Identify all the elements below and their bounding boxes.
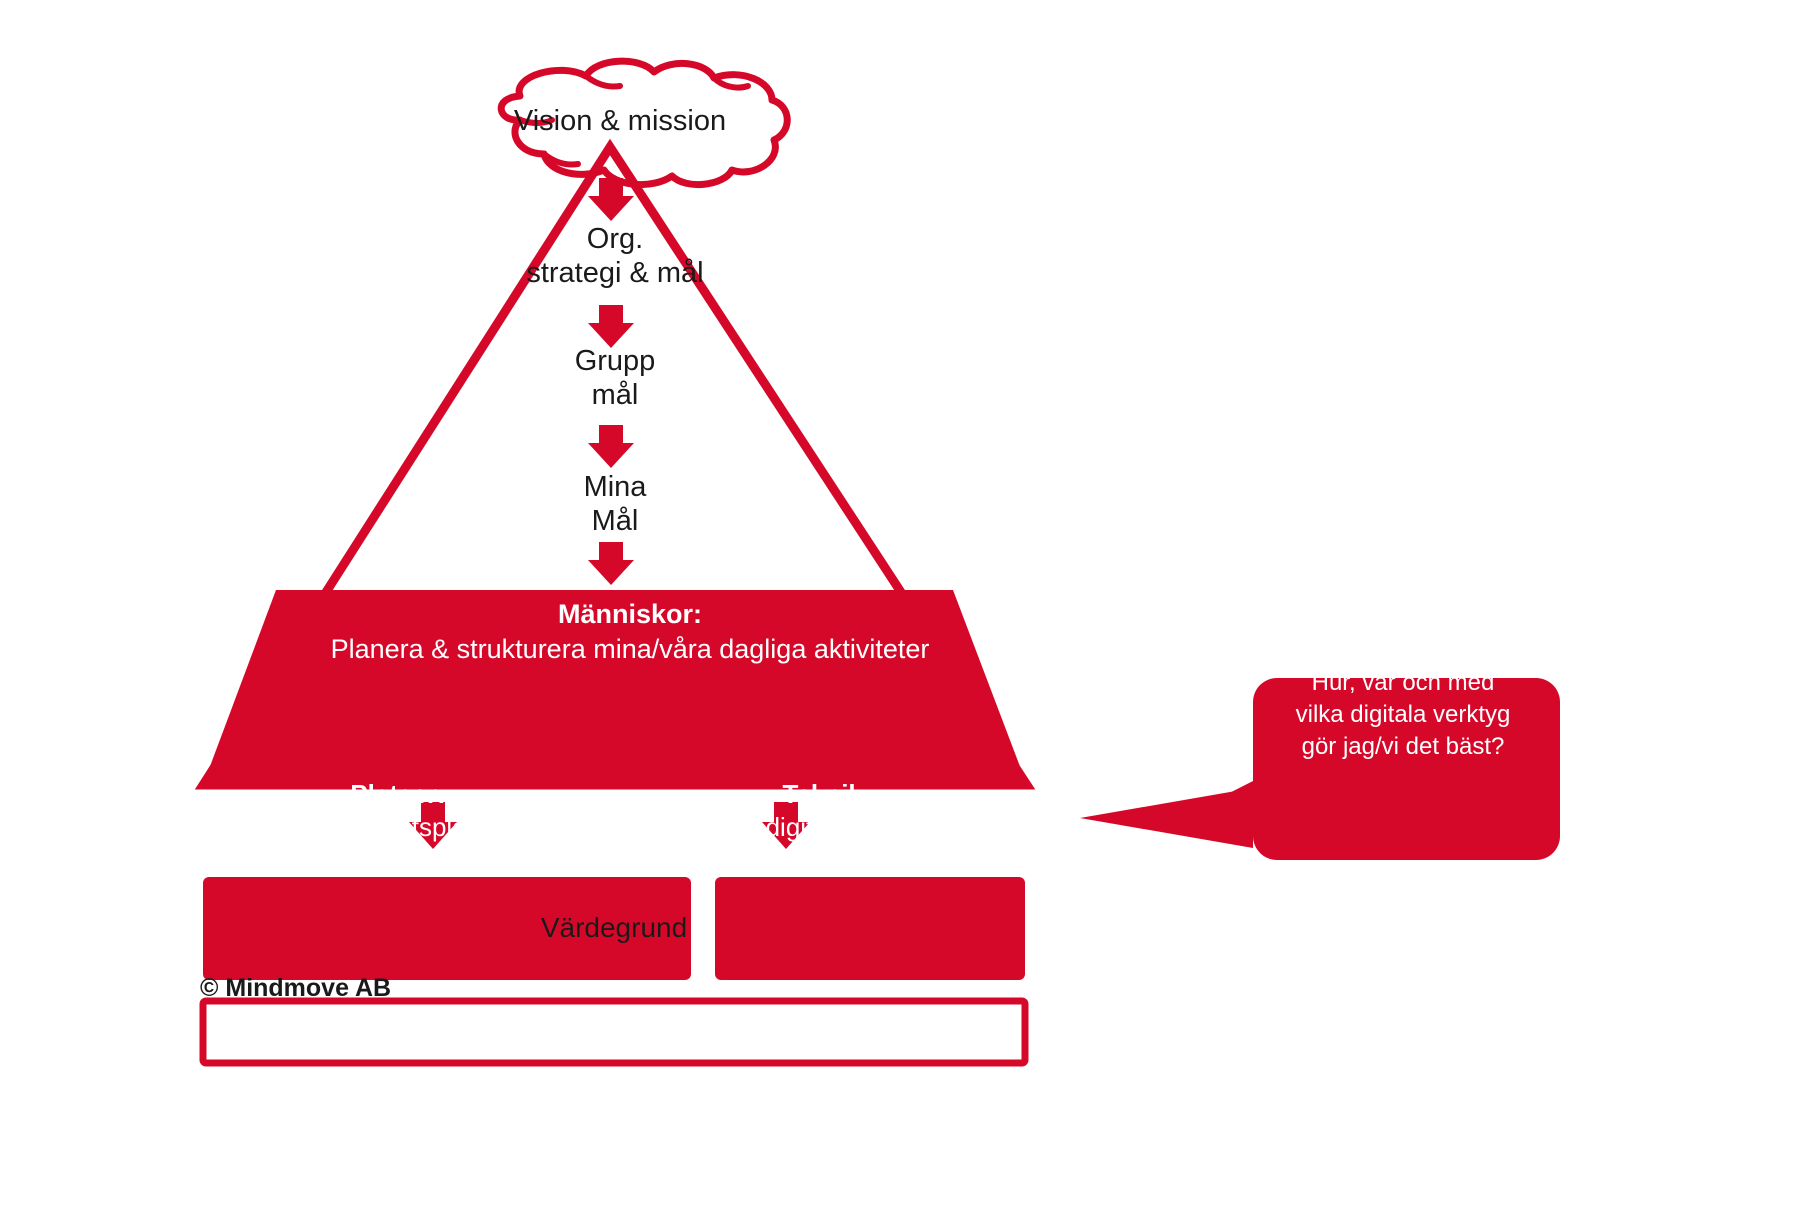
- cloud-label: Vision & mission: [420, 104, 820, 138]
- arrow-group-to-mina: [588, 425, 634, 468]
- arrow-org-to-group: [588, 305, 634, 348]
- box-vardegrund[interactable]: [203, 1001, 1025, 1063]
- pyramid-level-group-label: Gruppmål: [450, 344, 780, 412]
- box-platser-line2: för bästa support: [203, 845, 593, 876]
- arrow-mina-to-band: [588, 542, 634, 585]
- pyramid-level-org-line2: strategi & mål: [526, 257, 703, 289]
- band-title: Människor:: [230, 599, 1030, 631]
- foundation-label: Värdegrund: [203, 911, 1025, 944]
- pyramid-level-mina-line2: Mål: [592, 505, 639, 537]
- copyright-label: © Mindmove AB: [200, 974, 620, 1004]
- callout-line-4: vilka digitala verktyg: [1258, 701, 1548, 729]
- callout-line-1: Arbetsplatsstrategin: [1258, 605, 1548, 633]
- pyramid-level-org-line1: Org.: [587, 223, 643, 255]
- pyramid-level-mina-label: MinaMål: [450, 470, 780, 538]
- diagram-canvas: Vision & mission Org.strategi & mål Grup…: [0, 0, 1800, 1205]
- pyramid-level-group-line1: Grupp: [575, 345, 656, 377]
- pyramid-level-mina-line1: Mina: [584, 471, 647, 503]
- band-subtitle: Planera & strukturera mina/våra dagliga …: [200, 634, 1060, 666]
- box-platser-line1: Välj arbetsplats: [203, 812, 593, 843]
- pyramid-level-group-line2: mål: [592, 379, 639, 411]
- box-teknik-title: Teknik:: [627, 779, 1027, 810]
- callout-line-3: Hur, var och med: [1258, 669, 1548, 697]
- box-platser-title: Platser:: [203, 779, 593, 810]
- pyramid-level-org-label: Org.strategi & mål: [450, 222, 780, 290]
- box-teknik-line1: Välj digitala verktyg: [627, 812, 1027, 843]
- callout-line-2: svarar på:: [1258, 637, 1548, 665]
- box-teknik-line2: för bästa support: [627, 845, 1027, 876]
- callout-line-5: gör jag/vi det bäst?: [1258, 733, 1548, 761]
